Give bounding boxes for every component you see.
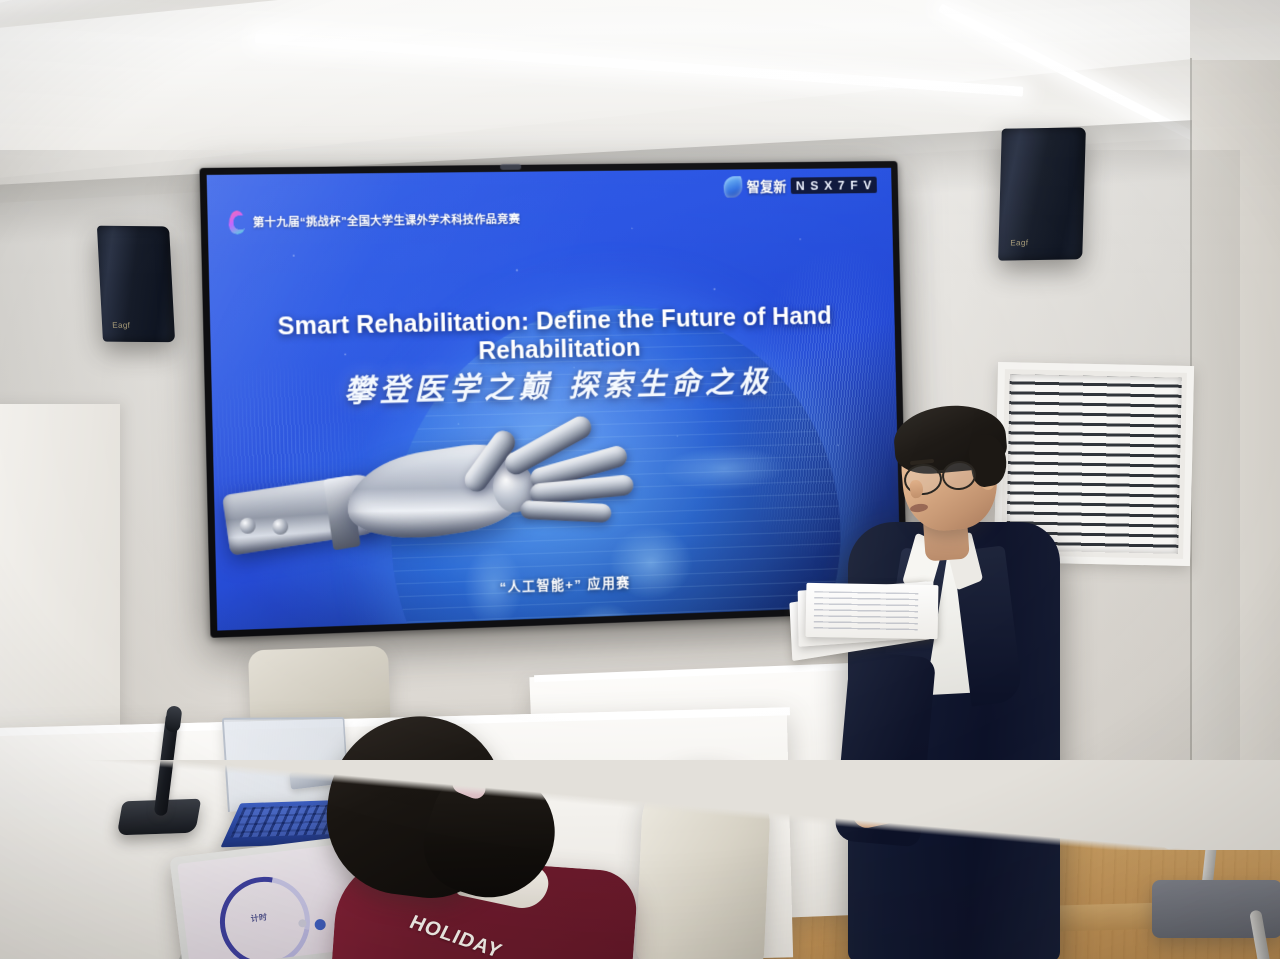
presenter-person [838,404,1068,959]
challenge-cup-logo-icon [229,211,246,235]
wall-speaker-left: Eagf [97,226,175,342]
presentation-slide: 第十九届“挑战杯”全国大学生课外学术科技作品竞赛 智复新 N S X 7 F V… [207,168,901,631]
floor-wall-join [0,760,1280,850]
led-display[interactable]: 第十九届“挑战杯”全国大学生课外学术科技作品竞赛 智复新 N S X 7 F V… [199,161,907,638]
brand-letter: S [810,180,819,193]
paper-text-lines [814,591,919,633]
timer-label: 计时 [214,873,303,959]
brand-chinese-name: 智复新 [747,176,787,196]
robot-finger [520,500,611,523]
speaker-brand-label: Eagf [112,321,131,330]
brand-letter: X [824,179,833,192]
presenter-script-papers [790,584,940,656]
slide-brand-logo: 智复新 N S X 7 F V [723,175,877,198]
slide-event-ribbon: 第十九届“挑战杯”全国大学生课外学术科技作品竞赛 [229,207,521,235]
brand-letter: F [850,179,859,192]
slide-event-ribbon-text: 第十九届“挑战杯”全国大学生课外学术科技作品竞赛 [253,211,521,230]
speaker-brand-label: Eagf [1010,238,1028,247]
robot-bolt [239,517,255,534]
brand-letter: N [796,180,806,193]
brand-letter: 7 [838,179,846,192]
wall-panel [0,404,120,764]
brand-letter: V [863,179,872,192]
presentation-room-photo: Eagf Eagf [0,0,1280,959]
brand-leaf-icon [723,176,742,198]
wall-speaker-right: Eagf [998,127,1086,260]
brand-latin-letters: N S X 7 F V [791,177,877,194]
display-sensor-icon [500,164,521,170]
